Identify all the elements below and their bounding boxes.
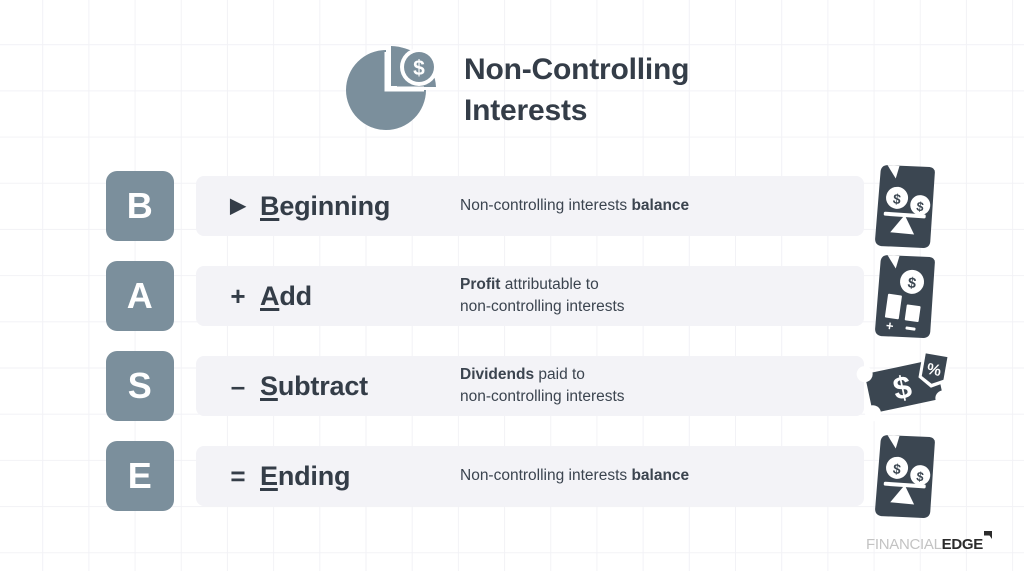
keyword-rest: ubtract	[278, 371, 368, 401]
svg-text:$: $	[890, 368, 915, 407]
description-add: Profit attributable to non-controlling i…	[460, 274, 864, 318]
keyword-rest: dd	[279, 281, 312, 311]
letter-badge-b: B	[106, 171, 174, 241]
svg-text:$: $	[892, 190, 902, 207]
desc-text: Non-controlling interests	[460, 467, 631, 484]
desc-emphasis: Dividends	[460, 366, 534, 383]
desc-emphasis: balance	[631, 467, 689, 484]
desc-emphasis: balance	[631, 197, 689, 214]
operator-minus: –	[216, 373, 260, 399]
svg-text:$: $	[413, 57, 425, 80]
row-bar-subtract: – Subtract Dividends paid to non-control…	[196, 356, 864, 416]
keyword-rest: eginning	[279, 191, 390, 221]
letter-badge-s: S	[106, 351, 174, 421]
svg-text:+: +	[885, 318, 895, 334]
svg-text:%: %	[925, 361, 942, 380]
svg-text:$: $	[915, 469, 925, 485]
letter-badge-a: A	[106, 261, 174, 331]
operator-plus: +	[216, 283, 260, 309]
letter-badge-e: E	[106, 441, 174, 511]
desc-text-line2: non-controlling interests	[460, 298, 625, 315]
description-beginning: Non-controlling interests balance	[460, 195, 864, 217]
brand-logo: FINANCIALEDGE	[866, 536, 993, 553]
desc-text: attributable to	[500, 276, 598, 293]
base-row-add: A + Add Profit attributable to non-contr…	[106, 261, 918, 331]
row-bar-add: + Add Profit attributable to non-control…	[196, 266, 864, 326]
keyword-beginning: Beginning	[260, 191, 460, 222]
desc-emphasis: Profit	[460, 276, 500, 293]
operator-equals: =	[216, 463, 260, 489]
base-row-subtract: S – Subtract Dividends paid to non-contr…	[106, 351, 918, 421]
desc-text: Non-controlling interests	[460, 197, 631, 214]
base-row-ending: E = Ending Non-controlling interests bal…	[106, 441, 918, 511]
keyword-rest: nding	[278, 461, 350, 491]
svg-text:$: $	[907, 274, 918, 292]
description-ending: Non-controlling interests balance	[460, 465, 864, 487]
base-row-beginning: B ▶ Beginning Non-controlling interests …	[106, 171, 918, 241]
brand-name-financial: FINANCIAL	[866, 536, 942, 553]
keyword-initial: E	[260, 461, 278, 491]
banknote-percent-icon: $ %	[850, 338, 960, 434]
keyword-ending: Ending	[260, 461, 460, 492]
document-bar-chart-dollar-icon: $ +	[850, 248, 960, 344]
keyword-initial: A	[260, 281, 279, 311]
desc-text-line2: non-controlling interests	[460, 388, 625, 405]
brand-name-edge: EDGE	[942, 536, 983, 553]
pie-chart-dollar-icon: $	[340, 42, 442, 138]
keyword-add: Add	[260, 281, 460, 312]
infographic-page: $ Non-Controlling Interests B ▶ Beginnin…	[0, 0, 1024, 571]
svg-text:$: $	[892, 460, 902, 477]
document-balance-scale-icon: $ $	[850, 158, 960, 254]
operator-triangle-right: ▶	[216, 196, 260, 216]
keyword-initial: B	[260, 191, 279, 221]
row-bar-ending: = Ending Non-controlling interests balan…	[196, 446, 864, 506]
flag-mark-icon	[984, 531, 993, 541]
description-subtract: Dividends paid to non-controlling intere…	[460, 364, 864, 408]
keyword-initial: S	[260, 371, 278, 401]
header: $ Non-Controlling Interests	[340, 42, 744, 138]
document-balance-scale-icon: $ $	[850, 428, 960, 524]
row-bar-beginning: ▶ Beginning Non-controlling interests ba…	[196, 176, 864, 236]
keyword-subtract: Subtract	[260, 371, 460, 402]
svg-text:$: $	[915, 199, 925, 215]
desc-text: paid to	[534, 366, 585, 383]
page-title: Non-Controlling Interests	[464, 49, 744, 132]
